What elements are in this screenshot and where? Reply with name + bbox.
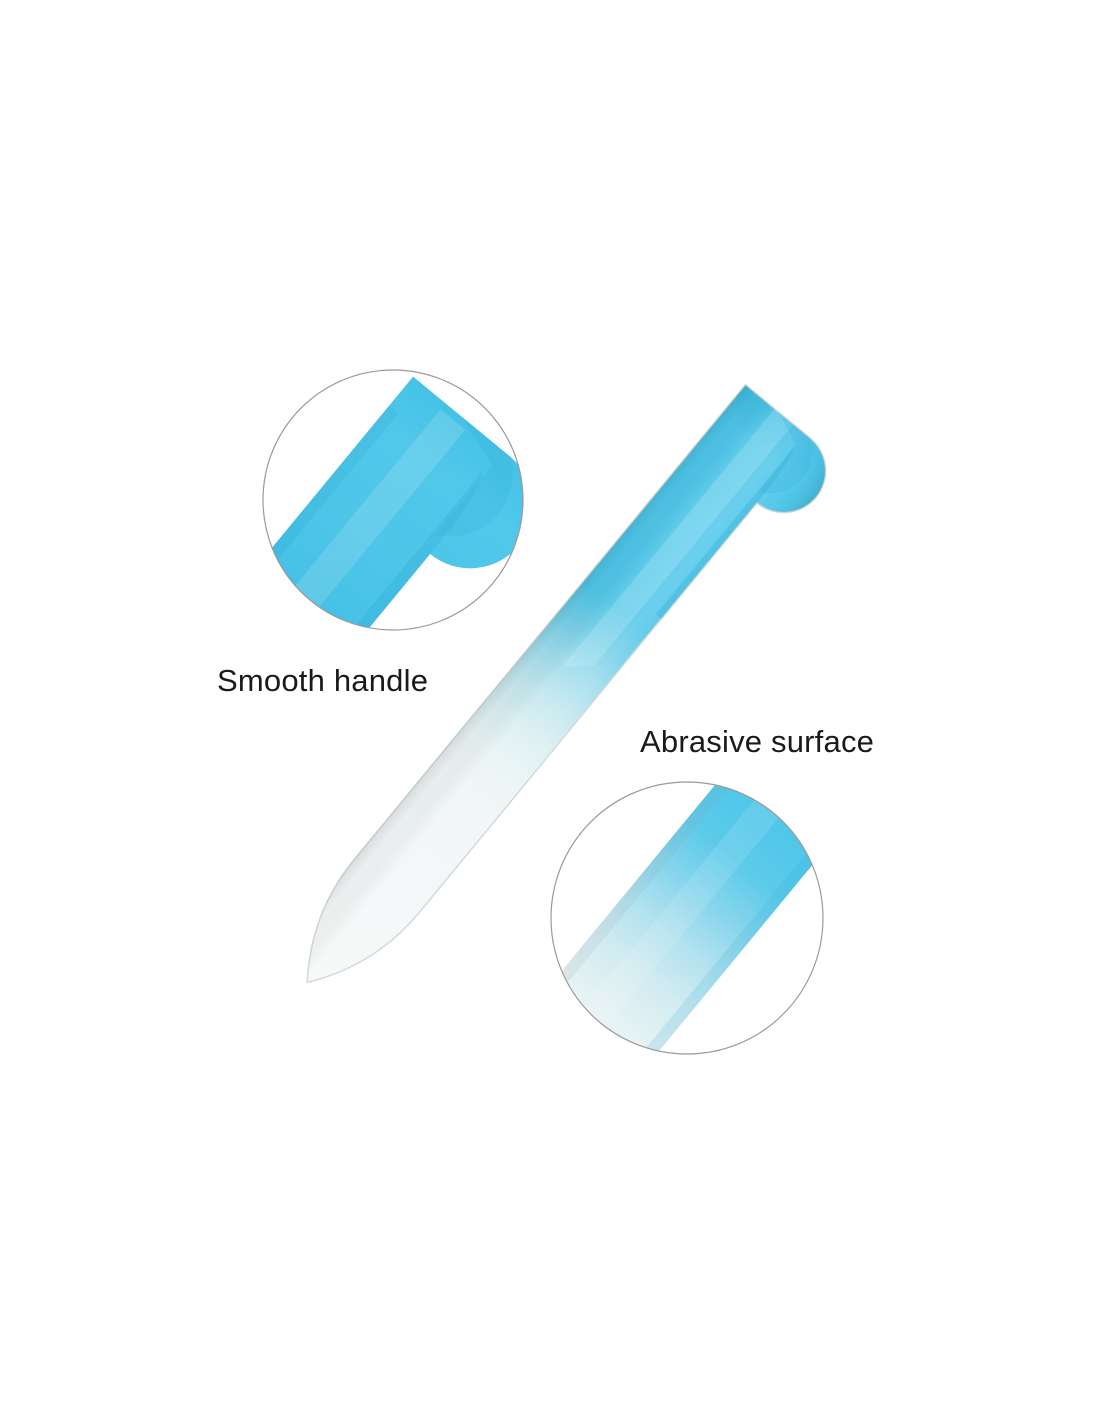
nail-file-illustration xyxy=(0,0,1100,1422)
callout-circle-abrasive-surface xyxy=(523,741,849,1099)
callout-label-abrasive-surface: Abrasive surface xyxy=(640,726,874,757)
callout-label-smooth-handle: Smooth handle xyxy=(217,665,428,696)
nail-file-highlight xyxy=(562,389,810,682)
product-infographic: Smooth handle Abrasive surface xyxy=(0,0,1100,1422)
